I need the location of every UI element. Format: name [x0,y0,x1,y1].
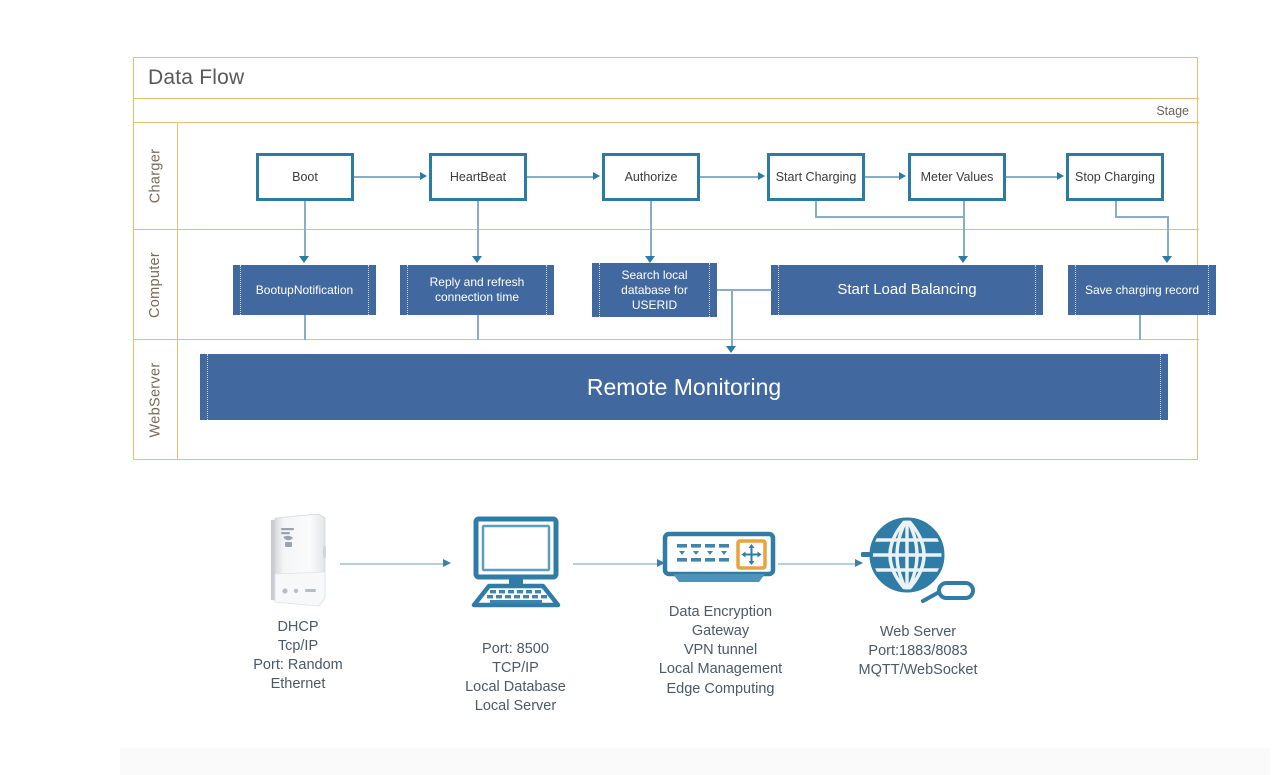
connector-metervalues-down [963,201,965,230]
desktop-computer-icon [459,515,574,610]
connector-startcharging-down [815,201,817,216]
connector-boot-down [304,201,306,230]
lane-label-webserver: WebServer [148,362,164,437]
connector-metervalues-stopcharging [1006,176,1057,178]
caption-webserver: Web Server Port:1883/8083 MQTT/WebSocket [823,623,1013,680]
node-remote-monitoring[interactable]: Remote Monitoring [200,354,1168,420]
connector-searchdb-right [717,289,772,291]
node-label: Authorize [625,170,678,185]
arrow-into-searchdb [645,256,655,263]
connector-startcharging-metervalues [865,176,899,178]
node-label: Save charging record [1085,283,1199,298]
lane-body-webserver: Remote Monitoring [178,340,1199,459]
node-bootup-notification[interactable]: BootupNotification [233,265,376,315]
node-start-charging[interactable]: Start Charging [767,153,865,201]
connector-heartbeat-authorize [527,176,593,178]
arrow-heartbeat-authorize [593,172,600,180]
arrow-into-remote-monitoring [726,346,736,353]
connector-authorize-startcharging [700,176,758,178]
connector-searchdb-down [731,289,733,340]
node-boot[interactable]: Boot [256,153,354,201]
node-label: Reply and refresh connection time [414,275,540,305]
caption-gateway: Data Encryption Gateway VPN tunnel Local… [628,603,813,699]
node-search-local-database[interactable]: Search local database for USERID [592,263,717,317]
lane-header-webserver: WebServer [134,340,178,459]
connector-stopcharging-right [1115,216,1168,218]
connector-stopcharging-down [1115,201,1117,216]
diagram-page: Data Flow Stage Charger Boot HeartBeat [0,0,1288,775]
connector-heartbeat-down [477,201,479,230]
lane-charger: Charger Boot HeartBeat Authorize Start C… [134,123,1199,230]
connector-saverecord-down [1139,315,1141,340]
lane-webserver: WebServer Remote Monitoring [134,340,1199,459]
arrow-metervalues-stopcharging [1057,172,1064,180]
connector-boot-heartbeat [354,176,420,178]
diagram-title: Data Flow [134,58,1199,99]
connector-into-saverecord [1167,230,1169,258]
node-meter-values[interactable]: Meter Values [908,153,1006,201]
node-start-load-balancing[interactable]: Start Load Balancing [771,265,1043,315]
link-gateway-webserver [778,563,858,565]
arrow-into-bootupnotification [299,256,309,263]
lane-body-computer: BootupNotification Reply and refresh con… [178,230,1199,339]
node-label: Start Load Balancing [837,281,976,300]
lane-header-charger: Charger [134,123,178,229]
lane-body-charger: Boot HeartBeat Authorize Start Charging … [178,123,1199,229]
arrow-into-loadbalancing [958,256,968,263]
connector-into-loadbalancing [963,230,965,258]
node-label: Meter Values [921,170,994,185]
connector-reply-down [477,315,479,340]
node-label: Start Charging [776,170,857,185]
network-gateway-icon [653,530,788,595]
connector-bootup-down [304,315,306,340]
connector-stopcharging-down2 [1167,216,1169,230]
node-reply-refresh[interactable]: Reply and refresh connection time [400,265,554,315]
caption-charger: DHCP Tcp/IP Port: Random Ethernet [208,618,388,695]
connector-into-searchdb [650,230,652,258]
node-label: HeartBeat [450,170,506,185]
lane-label-charger: Charger [148,149,164,204]
arrow-authorize-startcharging [758,172,765,180]
node-label: Boot [292,170,318,185]
arrow-boot-heartbeat [420,172,427,180]
arrow-startcharging-metervalues [899,172,906,180]
arrow-into-reply [472,256,482,263]
lane-computer: Computer BootupNotifi [134,230,1199,340]
connector-startcharging-right [815,216,964,218]
link-computer-gateway [573,563,661,565]
arrow-charger-computer [443,559,451,567]
lane-label-computer: Computer [148,251,164,317]
node-heartbeat[interactable]: HeartBeat [429,153,527,201]
node-label: Stop Charging [1075,170,1155,185]
arrow-into-saverecord [1162,256,1172,263]
lane-container: Charger Boot HeartBeat Authorize Start C… [134,123,1199,459]
network-topology-diagram: DHCP Tcp/IP Port: Random Ethernet [133,490,1198,740]
stage-band: Stage [134,99,1199,123]
node-label: Search local database for USERID [606,268,703,313]
node-stop-charging[interactable]: Stop Charging [1066,153,1164,201]
data-flow-swimlane-diagram: Data Flow Stage Charger Boot HeartBeat [133,57,1198,460]
bottom-strip [120,748,1270,775]
connector-into-bootupnotification [304,230,306,258]
node-authorize[interactable]: Authorize [602,153,700,201]
connector-authorize-down [650,201,652,230]
node-save-charging-record[interactable]: Save charging record [1068,265,1216,315]
link-charger-computer [340,563,445,565]
node-label: BootupNotification [256,283,353,298]
caption-computer: Port: 8500 TCP/IP Local Database Local S… [403,640,628,717]
wall-charger-icon [253,512,343,612]
lane-header-computer: Computer [134,230,178,339]
node-label: Remote Monitoring [587,373,781,402]
connector-into-reply [477,230,479,258]
globe-webserver-icon [855,515,980,610]
stage-label: Stage [1156,104,1189,118]
